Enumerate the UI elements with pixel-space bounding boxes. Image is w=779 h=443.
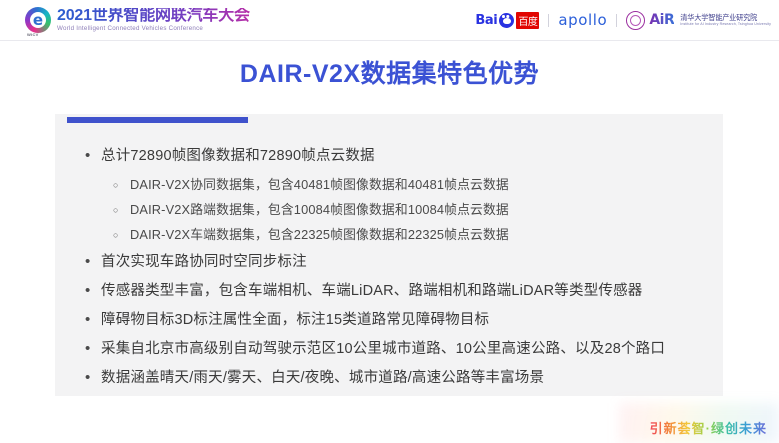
- air-wordmark: AiR: [649, 12, 674, 28]
- bullet-marker-icon: •: [85, 308, 101, 332]
- conference-title-en: World Intelligent Connected Vehicles Con…: [57, 26, 250, 32]
- sub-bullet-marker-icon: ○: [113, 223, 130, 248]
- bullet-text: 采集自北京市高级别自动驾驶示范区10公里城市道路、10公里高速公路、以及28个路…: [101, 337, 665, 361]
- logo-separator-2: [616, 14, 617, 27]
- bullet-marker-icon: •: [85, 250, 101, 274]
- air-logo: AiR 清华大学智能产业研究院 Institute for AI Industr…: [626, 11, 771, 30]
- apollo-logo: apollo: [558, 11, 607, 29]
- header-divider: [0, 40, 779, 41]
- bullet-text: 数据涵盖晴天/雨天/雾天、白天/夜晚、城市道路/高速公路等丰富场景: [101, 366, 544, 390]
- tsinghua-institute-en: Institute for AI Industry Research, Tsin…: [680, 23, 771, 27]
- conference-title-cn: 2021世界智能网联汽车大会: [57, 8, 250, 24]
- baidu-paw-icon: [499, 13, 514, 28]
- bullet-item: •障碍物目标3D标注属性全面，标注15类道路常见障碍物目标: [85, 308, 705, 333]
- page-title: DAIR-V2X数据集特色优势: [0, 54, 779, 90]
- bullet-marker-icon: •: [85, 337, 101, 361]
- bullet-item: •总计72890帧图像数据和72890帧点云数据: [85, 144, 705, 169]
- content-panel: •总计72890帧图像数据和72890帧点云数据○DAIR-V2X协同数据集，包…: [55, 114, 723, 396]
- logo-separator: [548, 14, 549, 27]
- panel-accent-bar: [67, 117, 248, 123]
- bullet-item: •采集自北京市高级别自动驾驶示范区10公里城市道路、10公里高速公路、以及28个…: [85, 337, 705, 362]
- bullet-item: •数据涵盖晴天/雨天/雾天、白天/夜晚、城市道路/高速公路等丰富场景: [85, 366, 705, 391]
- baidu-chinese-text: 百度: [516, 12, 539, 29]
- sub-bullet-item: ○DAIR-V2X路端数据集，包含10084帧图像数据和10084帧点云数据: [85, 198, 705, 223]
- bullet-text: 首次实现车路协同时空同步标注: [101, 250, 307, 274]
- sub-bullet-item: ○DAIR-V2X车端数据集，包含22325帧图像数据和22325帧点云数据: [85, 223, 705, 248]
- bullet-marker-icon: •: [85, 279, 101, 303]
- sub-bullet-item: ○DAIR-V2X协同数据集，包含40481帧图像数据和40481帧点云数据: [85, 173, 705, 198]
- sub-bullet-text: DAIR-V2X路端数据集，包含10084帧图像数据和10084帧点云数据: [130, 198, 509, 222]
- tsinghua-institute-cn: 清华大学智能产业研究院: [680, 14, 771, 21]
- bullet-list: •总计72890帧图像数据和72890帧点云数据○DAIR-V2X协同数据集，包…: [85, 144, 705, 395]
- baidu-logo: Bai 百度: [475, 12, 539, 29]
- bullet-text: 障碍物目标3D标注属性全面，标注15类道路常见障碍物目标: [101, 308, 489, 332]
- bullet-text: 总计72890帧图像数据和72890帧点云数据: [101, 144, 375, 168]
- footer-slogan: 引新荟智·绿创未来: [650, 418, 767, 437]
- conference-logo-text: 2021世界智能网联汽车大会 World Intelligent Connect…: [57, 8, 250, 32]
- bullet-item: •首次实现车路协同时空同步标注: [85, 250, 705, 275]
- wicv-emblem-letter: e: [25, 7, 51, 33]
- tsinghua-institute-text: 清华大学智能产业研究院 Institute for AI Industry Re…: [680, 14, 771, 27]
- sub-bullet-list: ○DAIR-V2X协同数据集，包含40481帧图像数据和40481帧点云数据○D…: [85, 173, 705, 248]
- baidu-latin-text: Bai: [475, 13, 497, 28]
- slide-header: e WICV 2021世界智能网联汽车大会 World Intelligent …: [0, 0, 779, 40]
- bullet-text: 传感器类型丰富，包含车端相机、车端LiDAR、路端相机和路端LiDAR等类型传感…: [101, 279, 643, 303]
- sub-bullet-text: DAIR-V2X协同数据集，包含40481帧图像数据和40481帧点云数据: [130, 173, 509, 197]
- sub-bullet-text: DAIR-V2X车端数据集，包含22325帧图像数据和22325帧点云数据: [130, 223, 509, 247]
- sub-bullet-marker-icon: ○: [113, 173, 130, 198]
- partner-logos: Bai 百度 apollo AiR 清华大学智能产业研究院 Institute …: [475, 9, 771, 31]
- wicv-emblem-tag: WICV: [27, 32, 39, 37]
- wicv-emblem-icon: e WICV: [25, 7, 51, 33]
- conference-logo: e WICV 2021世界智能网联汽车大会 World Intelligent …: [25, 7, 250, 33]
- bullet-marker-icon: •: [85, 144, 101, 168]
- tsinghua-seal-icon: [626, 11, 645, 30]
- bullet-marker-icon: •: [85, 366, 101, 390]
- bullet-item: •传感器类型丰富，包含车端相机、车端LiDAR、路端相机和路端LiDAR等类型传…: [85, 279, 705, 304]
- sub-bullet-marker-icon: ○: [113, 198, 130, 223]
